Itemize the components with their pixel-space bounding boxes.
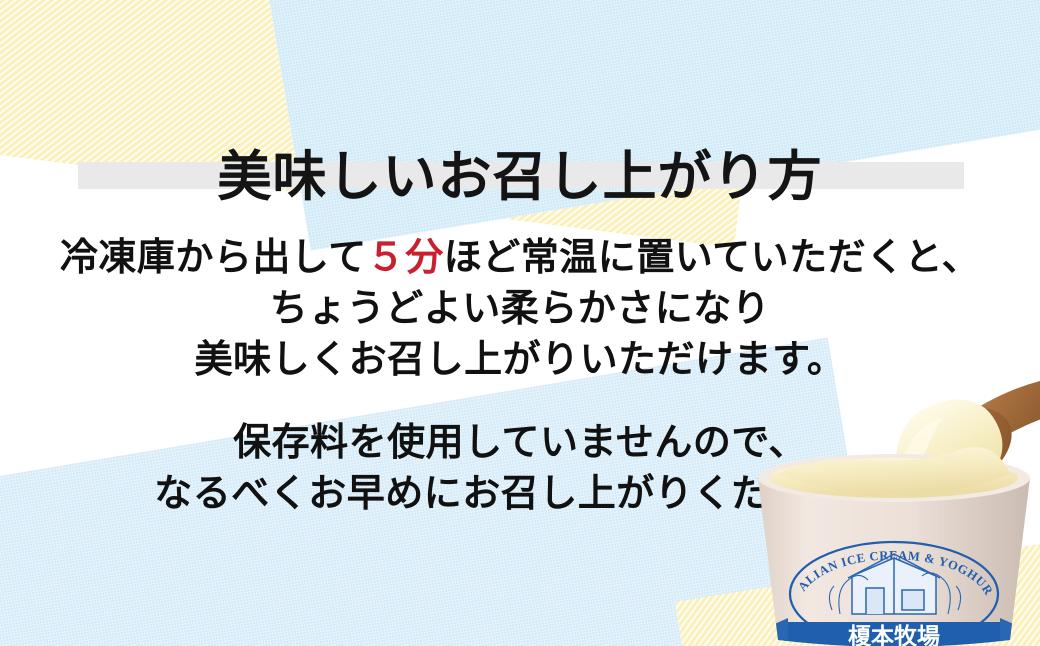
logo-banner-right-tail: [1000, 618, 1018, 646]
ice-cream-photo: 榎本牧場のアイスクリームのカップと木製スプーン: [744, 378, 1040, 646]
body-line-1-suffix: ほど常温に置いていただくと、: [444, 237, 980, 279]
page-title: 美味しいお召し上がり方: [0, 140, 1040, 214]
promo-page: 美味しいお召し上がり方 冷凍庫から出して５分ほど常温に置いていただくと、 ちょう…: [0, 0, 1040, 646]
logo-banner-text: 榎本牧場: [848, 623, 940, 646]
body-line-1-prefix: 冷凍庫から出して: [60, 237, 367, 279]
logo-banner-left-tail: [770, 618, 788, 646]
body-line-2: ちょうどよい柔らかさになり: [0, 284, 1040, 335]
paragraph-preparation: 冷凍庫から出して５分ほど常温に置いていただくと、 ちょうどよい柔らかさになり 美…: [0, 233, 1040, 386]
body-line-1-accent-five-minutes: ５分: [367, 237, 444, 279]
body-line-1: 冷凍庫から出して５分ほど常温に置いていただくと、: [0, 233, 1040, 284]
heading-section: 美味しいお召し上がり方: [0, 104, 1040, 188]
